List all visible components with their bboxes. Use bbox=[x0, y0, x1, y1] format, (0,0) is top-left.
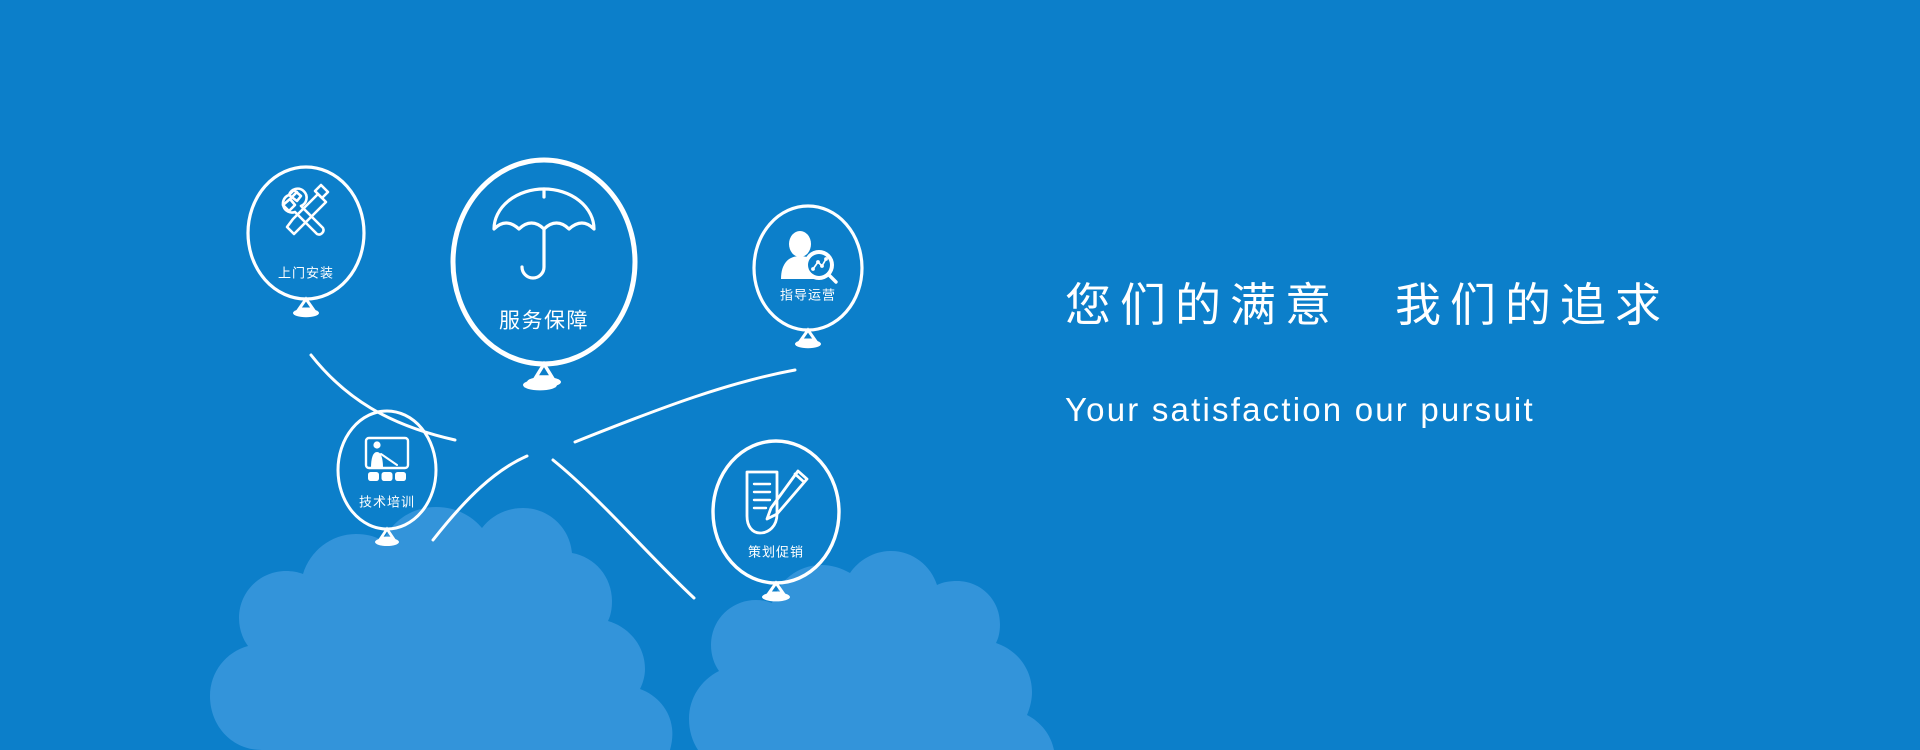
service-banner: 上门安装 服务保障 bbox=[0, 0, 1920, 750]
hub-base bbox=[523, 380, 557, 391]
node-service-guarantee[interactable]: 服务保障 bbox=[453, 160, 635, 387]
node-install-stem bbox=[299, 299, 313, 309]
subheadline: Your satisfaction our pursuit bbox=[1065, 390, 1825, 430]
node-training-label: 技术培训 bbox=[359, 494, 415, 509]
umbrella-icon bbox=[494, 189, 594, 278]
node-training-base bbox=[375, 538, 399, 546]
node-promotion-label: 策划促销 bbox=[748, 544, 804, 559]
node-install-base bbox=[293, 309, 319, 317]
copy-block: 您们的满意 我们的追求 Your satisfaction our pursui… bbox=[1065, 278, 1825, 430]
node-training-ring bbox=[338, 411, 436, 529]
node-promotion-planning[interactable]: 策划促销 bbox=[713, 441, 839, 601]
node-service-label: 服务保障 bbox=[499, 310, 589, 333]
user-search-icon bbox=[781, 231, 836, 282]
connector-training-to-hub bbox=[433, 456, 527, 540]
connector-guidance-to-hub bbox=[575, 370, 795, 442]
node-guidance-label: 指导运营 bbox=[780, 287, 836, 302]
node-guidance-base bbox=[795, 340, 821, 348]
connector-promotion-to-hub bbox=[553, 460, 694, 598]
connector-install-to-hub bbox=[311, 355, 455, 440]
node-guidance-stem bbox=[801, 330, 815, 340]
node-promotion-base bbox=[762, 593, 790, 602]
node-operation-guidance[interactable]: 指导运营 bbox=[754, 206, 862, 348]
headline: 您们的满意 我们的追求 bbox=[1065, 278, 1825, 332]
node-install-label: 上门安装 bbox=[278, 265, 334, 280]
node-install[interactable]: 上门安装 bbox=[248, 167, 364, 317]
hammer-wrench-icon bbox=[283, 185, 328, 234]
node-training-stem bbox=[381, 529, 393, 538]
classroom-training-icon bbox=[366, 438, 408, 481]
document-pencil-icon bbox=[747, 471, 807, 533]
service-hub bbox=[523, 380, 557, 391]
